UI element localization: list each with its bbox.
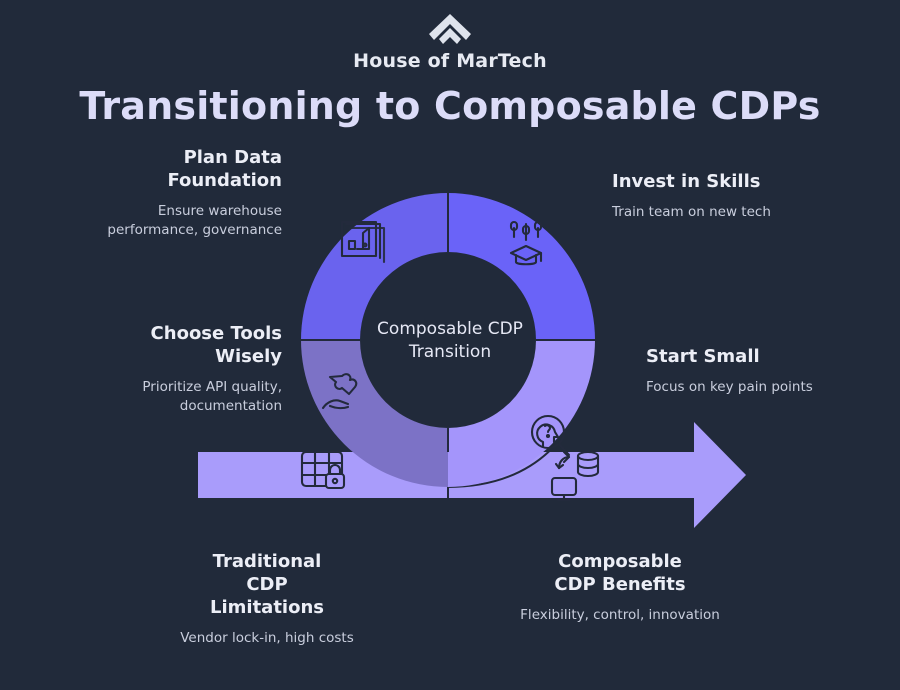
label-traditional-heading-line2: CDP	[167, 573, 367, 596]
label-start-small[interactable]: Start Small Focus on key pain points	[646, 345, 846, 397]
segment-choose[interactable]	[301, 340, 448, 487]
label-plan-data-foundation[interactable]: Plan Data Foundation Ensure warehouse pe…	[92, 146, 282, 240]
segment-start[interactable]	[448, 340, 595, 487]
segment-plan[interactable]	[301, 193, 448, 340]
label-traditional-heading-line1: Traditional	[167, 550, 367, 573]
label-start-heading-line1: Start Small	[646, 345, 846, 368]
label-benefits-heading-line1: Composable	[520, 550, 720, 573]
label-invest-in-skills[interactable]: Invest in Skills Train team on new tech	[612, 170, 812, 222]
label-plan-heading: Plan Data Foundation	[92, 146, 282, 192]
label-invest-body: Train team on new tech	[612, 203, 812, 222]
label-choose-tools-wisely[interactable]: Choose Tools Wisely Prioritize API quali…	[92, 322, 282, 416]
label-choose-heading-line2: Wisely	[92, 345, 282, 368]
page-title: Transitioning to Composable CDPs	[0, 84, 900, 128]
segment-invest[interactable]	[448, 193, 595, 340]
label-choose-heading-line1: Choose Tools	[92, 322, 282, 345]
label-plan-heading-line1: Plan Data	[92, 146, 282, 169]
label-choose-heading: Choose Tools Wisely	[92, 322, 282, 368]
label-traditional-body: Vendor lock-in, high costs	[167, 629, 367, 648]
label-benefits-heading-line2: CDP Benefits	[520, 573, 720, 596]
infographic-canvas: House of MarTech Transitioning to Compos…	[0, 0, 900, 690]
label-start-heading: Start Small	[646, 345, 846, 368]
label-traditional-heading-line3: Limitations	[167, 596, 367, 619]
label-composable-cdp-benefits[interactable]: Composable CDP Benefits Flexibility, con…	[520, 550, 720, 625]
label-choose-body: Prioritize API quality, documentation	[92, 378, 282, 416]
label-invest-heading-line1: Invest in Skills	[612, 170, 812, 193]
label-traditional-heading: Traditional CDP Limitations	[167, 550, 367, 619]
brand-name: House of MarTech	[0, 50, 900, 72]
brand-block: House of MarTech	[0, 12, 900, 72]
label-benefits-heading: Composable CDP Benefits	[520, 550, 720, 596]
label-plan-heading-line2: Foundation	[92, 169, 282, 192]
label-invest-heading: Invest in Skills	[612, 170, 812, 193]
label-benefits-body: Flexibility, control, innovation	[520, 606, 720, 625]
label-start-body: Focus on key pain points	[646, 378, 846, 397]
label-traditional-cdp-limitations[interactable]: Traditional CDP Limitations Vendor lock-…	[167, 550, 367, 648]
chevron-stack-logo-icon	[423, 12, 477, 46]
label-plan-body: Ensure warehouse performance, governance	[92, 202, 282, 240]
